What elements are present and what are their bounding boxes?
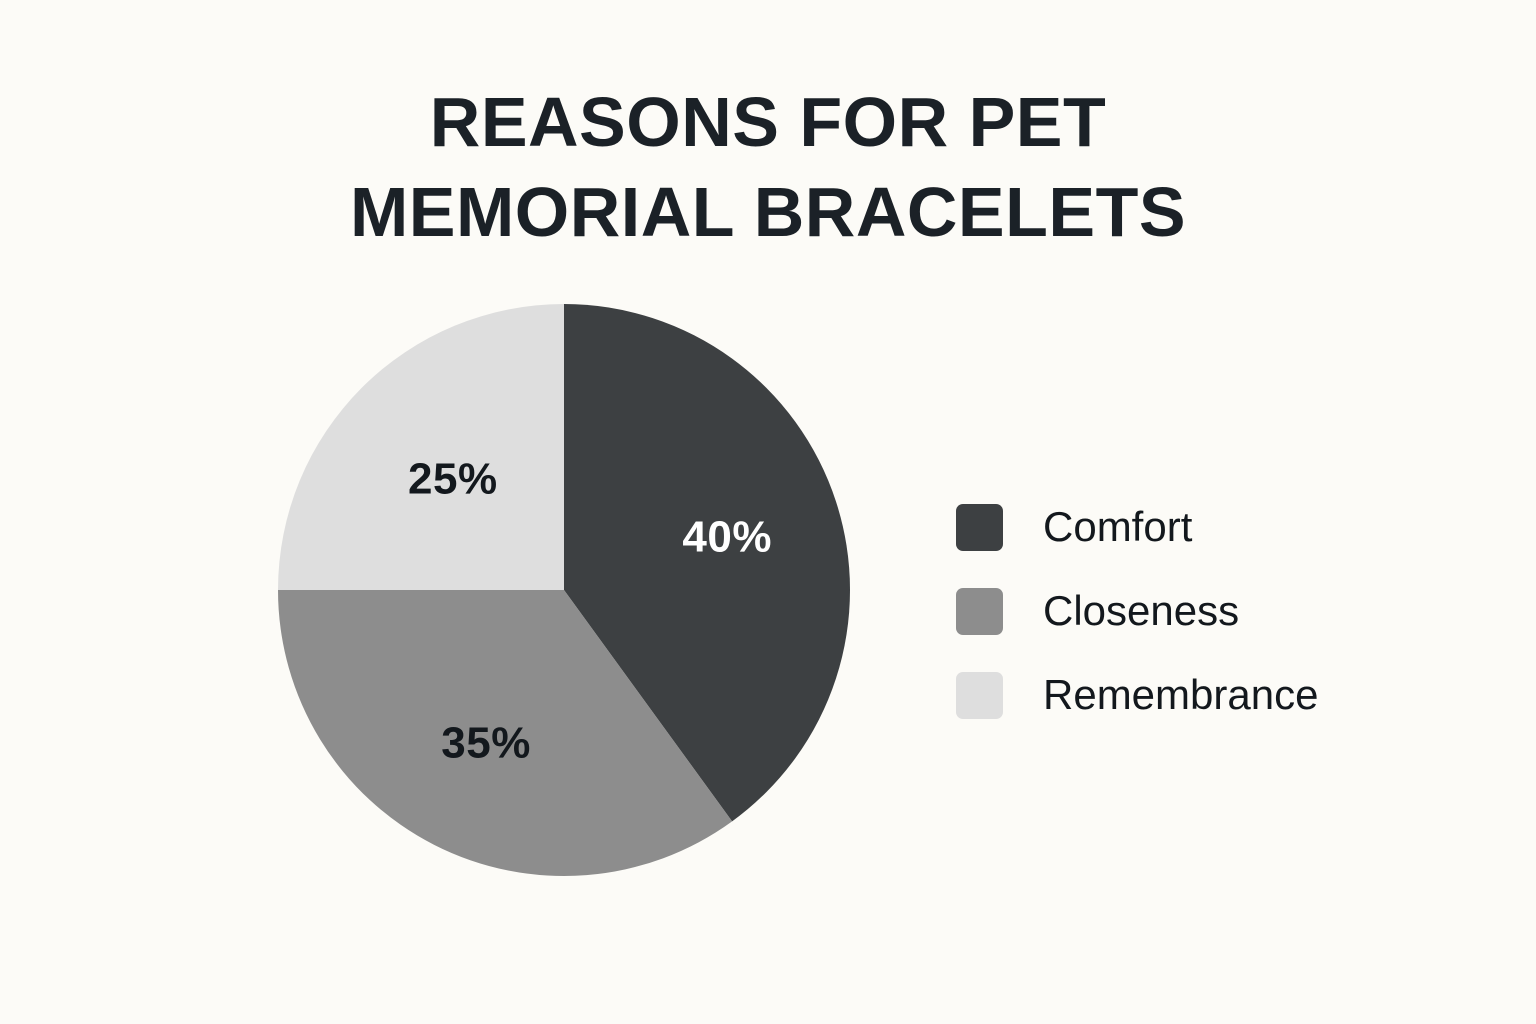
legend-swatch-comfort [956,504,1003,551]
pie-chart-svg: 40%35%25% [277,303,851,877]
pie-slice-label-comfort: 40% [682,513,772,562]
chart-legend: Comfort Closeness Remembrance [956,503,1318,719]
legend-label-remembrance: Remembrance [1043,674,1318,716]
pie-chart: 40%35%25% [277,303,851,877]
legend-label-comfort: Comfort [1043,506,1192,548]
pie-slice-group [278,304,850,876]
legend-item-comfort[interactable]: Comfort [956,503,1318,551]
page-title-line-2: MEMORIAL BRACELETS [0,168,1536,258]
legend-swatch-closeness [956,588,1003,635]
pie-slice-label-remembrance: 25% [408,454,498,503]
pie-slice-label-closeness: 35% [441,718,531,767]
legend-label-closeness: Closeness [1043,590,1239,632]
legend-swatch-remembrance [956,672,1003,719]
chart-page: REASONS FOR PET MEMORIAL BRACELETS 40%35… [0,0,1536,1024]
legend-item-remembrance[interactable]: Remembrance [956,671,1318,719]
page-title: REASONS FOR PET MEMORIAL BRACELETS [0,78,1536,257]
page-title-line-1: REASONS FOR PET [0,78,1536,168]
legend-item-closeness[interactable]: Closeness [956,587,1318,635]
pie-slice-remembrance[interactable] [278,304,564,590]
